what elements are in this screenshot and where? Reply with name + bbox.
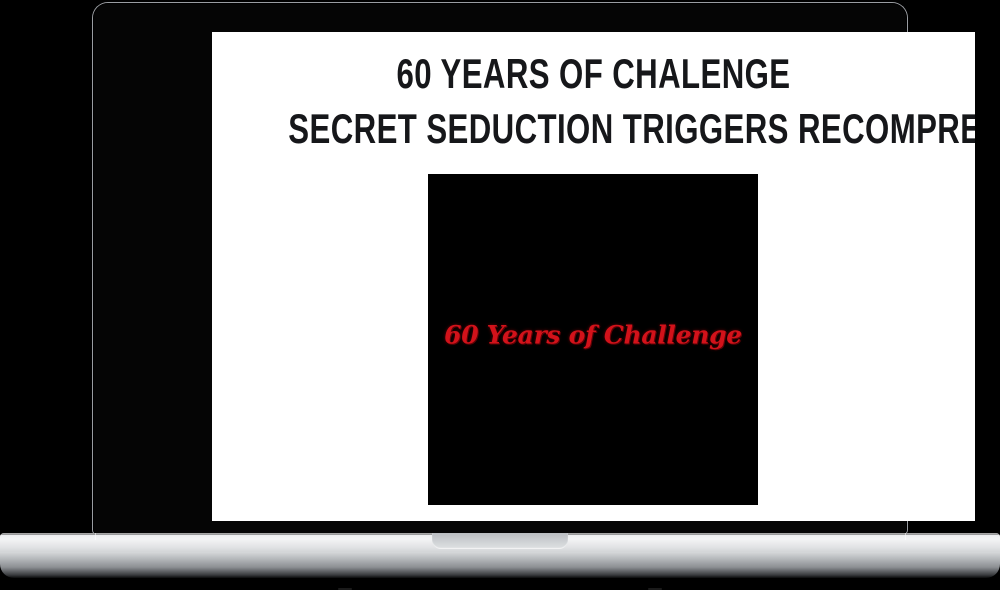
laptop-base — [0, 533, 1000, 578]
slide-title-line-1: 60 YEARS OF CHALENGE — [288, 54, 898, 95]
laptop-base-notch — [432, 533, 568, 549]
laptop-lid: 60 YEARS OF CHALENGE SECRET SEDUCTION TR… — [92, 2, 908, 535]
screenshot-stage: 60 YEARS OF CHALENGE SECRET SEDUCTION TR… — [0, 0, 1000, 578]
cover-logo-text: 60 Years of Challenge — [428, 320, 758, 349]
laptop-mockup: 60 YEARS OF CHALENGE SECRET SEDUCTION TR… — [0, 0, 1000, 578]
slide-canvas: 60 YEARS OF CHALENGE SECRET SEDUCTION TR… — [212, 32, 975, 521]
laptop-screen: 60 YEARS OF CHALENGE SECRET SEDUCTION TR… — [212, 32, 975, 521]
laptop-base-bottom — [0, 552, 1000, 578]
laptop-base-tick-left — [95, 533, 96, 540]
slide-title-line-2: SECRET SEDUCTION TRIGGERS RECOMPRESSED — [288, 109, 898, 150]
product-cover-art: 60 Years of Challenge — [428, 174, 758, 505]
laptop-base-tick-right — [905, 533, 906, 540]
slide-headline-block: 60 YEARS OF CHALENGE SECRET SEDUCTION TR… — [212, 54, 975, 148]
